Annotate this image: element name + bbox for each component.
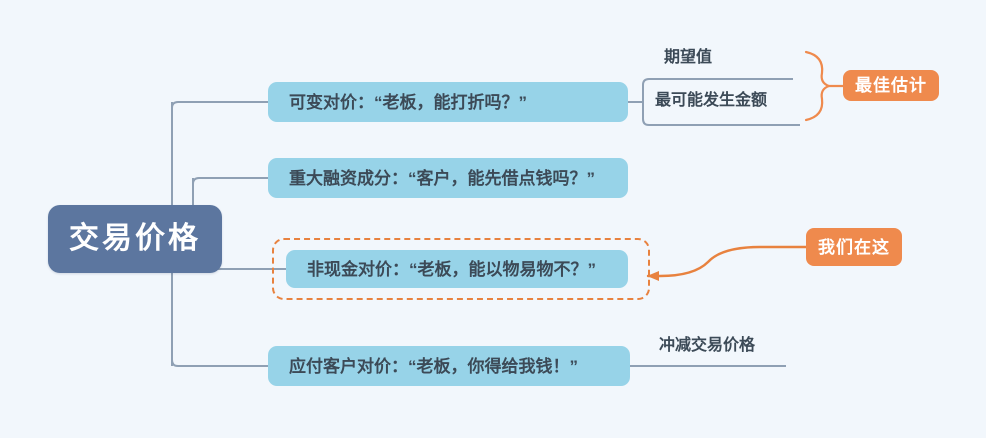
pointer-arrow-you-are-here xyxy=(648,247,806,276)
branch-wire-payable xyxy=(172,356,268,366)
branch-node-payable-label: 应付客户对价：“老板，你得给我钱！” xyxy=(289,358,578,375)
sub-label-most-likely-amount: 最可能发生金额 xyxy=(655,93,767,109)
branch-node-noncash-label: 非现金对价：“老板，能以物易物不？” xyxy=(307,261,596,278)
branch-node-variable[interactable]: 可变对价：“老板，能打折吗？” xyxy=(268,82,628,122)
mindmap-canvas: 交易价格 可变对价：“老板，能打折吗？” 重大融资成分：“客户，能先借点钱吗？”… xyxy=(0,0,986,438)
curly-brace-best-estimate xyxy=(806,52,829,120)
branch-node-variable-label: 可变对价：“老板，能打折吗？” xyxy=(289,94,527,111)
branch-wire-variable xyxy=(172,102,268,112)
root-node[interactable]: 交易价格 xyxy=(48,205,222,273)
badge-you-are-here[interactable]: 我们在这 xyxy=(806,228,902,266)
branch-wire-financing xyxy=(193,178,268,188)
sub-label-offset-transaction-price: 冲减交易价格 xyxy=(659,338,755,354)
badge-you-are-here-label: 我们在这 xyxy=(818,239,890,256)
badge-best-estimate-label: 最佳估计 xyxy=(855,77,927,94)
root-node-label: 交易价格 xyxy=(69,224,201,254)
sub-label-expected-value: 期望值 xyxy=(664,50,712,66)
branch-node-payable[interactable]: 应付客户对价：“老板，你得给我钱！” xyxy=(268,346,630,386)
branch-node-noncash[interactable]: 非现金对价：“老板，能以物易物不？” xyxy=(286,250,628,288)
branch-node-financing-label: 重大融资成分：“客户，能先借点钱吗？” xyxy=(289,170,595,187)
branch-node-financing[interactable]: 重大融资成分：“客户，能先借点钱吗？” xyxy=(268,158,628,198)
badge-best-estimate[interactable]: 最佳估计 xyxy=(843,70,939,101)
